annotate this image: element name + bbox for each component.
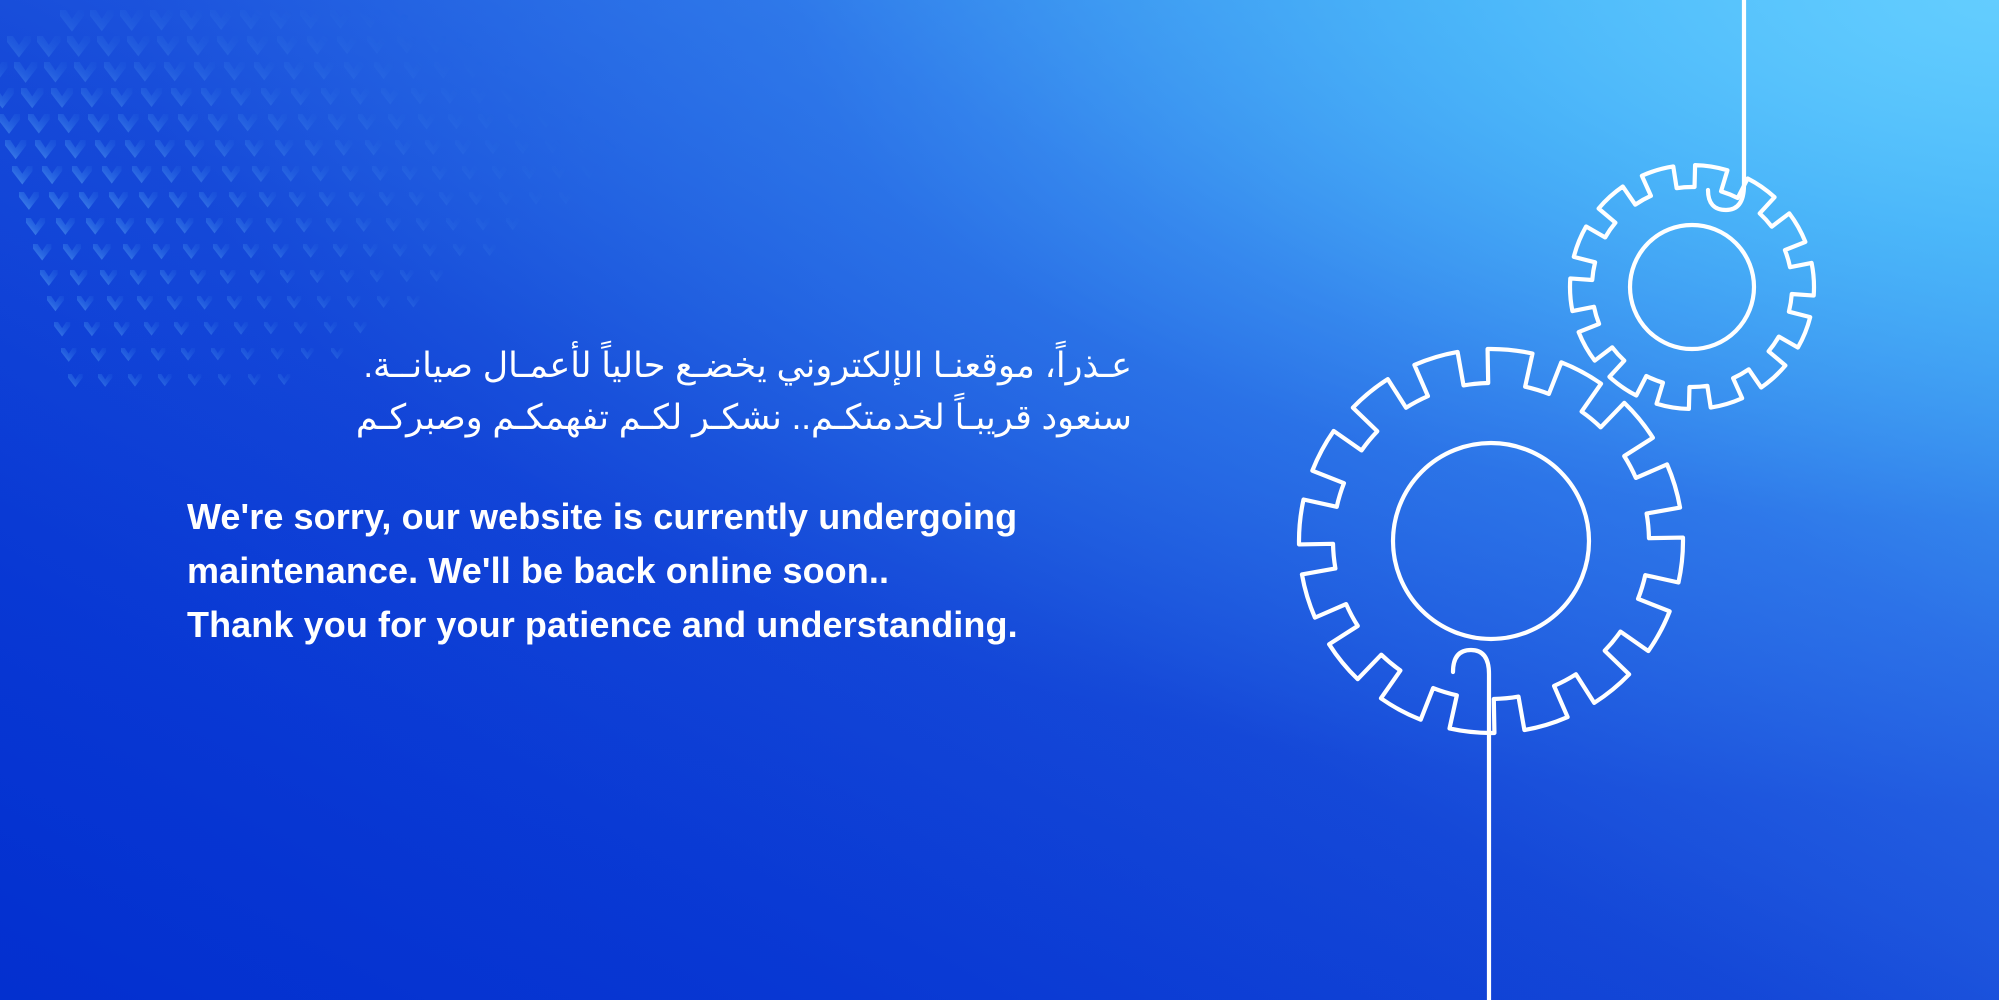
arabic-line-1: عـذراً، موقعنـا الإلكتروني يخضـع حالياً … <box>187 340 1132 392</box>
arabic-line-2: سنعود قريبـاً لخدمتكـم.. نشكـر لكـم تفهم… <box>187 392 1132 444</box>
english-line-2: maintenance. We'll be back online soon.. <box>187 544 1187 598</box>
arabic-message: عـذراً، موقعنـا الإلكتروني يخضـع حالياً … <box>187 340 1132 444</box>
english-line-3: Thank you for your patience and understa… <box>187 598 1187 652</box>
english-line-1: We're sorry, our website is currently un… <box>187 490 1187 544</box>
english-message: We're sorry, our website is currently un… <box>187 490 1187 652</box>
message-block: عـذراً، موقعنـا الإلكتروني يخضـع حالياً … <box>187 340 1187 652</box>
maintenance-page: عـذراً، موقعنـا الإلكتروني يخضـع حالياً … <box>0 0 1999 1000</box>
